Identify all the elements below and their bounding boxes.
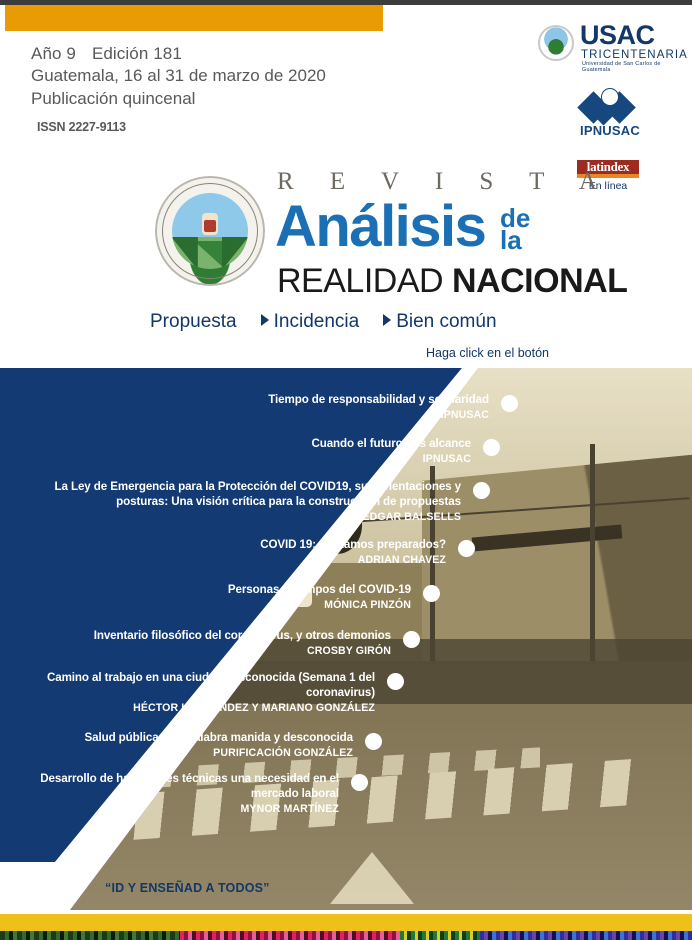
issue-frequency: Publicación quincenal (31, 88, 326, 110)
article-title: Tiempo de responsabilidad y solidaridad (250, 393, 489, 408)
article-button-icon[interactable] (387, 673, 404, 690)
triangle-right-icon (261, 314, 269, 326)
list-item[interactable]: Tiempo de responsabilidad y solidaridad … (250, 393, 518, 423)
list-item[interactable]: COVID 19: ¿Estamos preparados? ADRIAN CH… (215, 538, 475, 568)
list-item[interactable]: Cuando el futuro nos alcance IPNUSAC (230, 437, 500, 467)
list-item[interactable]: Desarrollo de habilidades técnicas una n… (40, 772, 368, 816)
nav-row: PropuestaIncidenciaBien común (150, 311, 497, 333)
nav-item-incidencia[interactable]: Incidencia (261, 311, 360, 333)
article-author: MYNOR MARTÍNEZ (40, 803, 339, 817)
triangle-right-icon (383, 314, 391, 326)
list-item[interactable]: Inventario filosófico del coronavirus, y… (60, 629, 420, 659)
list-item[interactable]: La Ley de Emergencia para la Protección … (30, 480, 490, 524)
article-title: Camino al trabajo en una ciudad desconoc… (40, 671, 375, 701)
footer-yellow-bar (0, 914, 692, 931)
article-author: ADRIAN CHAVEZ (215, 554, 446, 568)
article-button-icon[interactable] (473, 482, 490, 499)
nav-item-bien-comun[interactable]: Bien común (383, 311, 496, 333)
top-orange-bar (5, 5, 383, 31)
usac-seal-icon (538, 25, 574, 61)
issue-year: Año 9 (31, 44, 76, 63)
article-title: COVID 19: ¿Estamos preparados? (215, 538, 446, 553)
article-button-icon[interactable] (403, 631, 420, 648)
article-author: IPNUSAC (250, 409, 489, 423)
analisis-word: Análisis (275, 198, 485, 256)
usac-tricentenaria-label: TRICENTENARIA (581, 49, 688, 61)
article-button-icon[interactable] (483, 439, 500, 456)
usac-wordmark: USAC (580, 22, 655, 49)
footer-textile-strip (0, 931, 692, 940)
article-title: Salud pública, esa palabra manida y desc… (80, 731, 353, 746)
usac-big-seal-icon (150, 171, 270, 291)
article-author: HÉCTOR HERNÁNDEZ Y MARIANO GONZÁLEZ (40, 702, 375, 716)
click-hint-text: Haga click en el botón (426, 346, 549, 360)
article-author: CROSBY GIRÓN (60, 645, 391, 659)
revista-word: R E V I S T A (277, 168, 612, 196)
list-item[interactable]: Camino al trabajo en una ciudad desconoc… (40, 671, 404, 715)
article-title: Inventario filosófico del coronavirus, y… (60, 629, 391, 644)
article-title: Desarrollo de habilidades técnicas una n… (40, 772, 339, 802)
usac-logo: USAC TRICENTENARIA Universidad de San Ca… (538, 22, 686, 70)
article-list: Tiempo de responsabilidad y solidaridad … (0, 368, 692, 862)
motto-text: “ID Y ENSEÑAD A TODOS” (105, 881, 270, 895)
issue-number: Edición 181 (92, 44, 182, 63)
article-author: IPNUSAC (230, 453, 471, 467)
article-author: MÓNICA PINZÓN (200, 599, 411, 613)
ipnusac-diamond-icon (582, 88, 638, 122)
realidad-word: REALIDAD (277, 262, 443, 300)
article-button-icon[interactable] (423, 585, 440, 602)
issn-text: ISSN 2227-9113 (37, 120, 126, 134)
realidad-nacional-word: REALIDAD NACIONAL (277, 264, 627, 298)
article-title: La Ley de Emergencia para la Protección … (30, 480, 461, 510)
magazine-cover: Año 9Edición 181 Guatemala, 16 al 31 de … (0, 0, 692, 940)
issue-place-date: Guatemala, 16 al 31 de marzo de 2020 (31, 65, 326, 87)
issue-info: Año 9Edición 181 Guatemala, 16 al 31 de … (31, 43, 326, 110)
article-button-icon[interactable] (365, 733, 382, 750)
ipnusac-logo: IPNUSAC (574, 88, 646, 138)
nacional-word: NACIONAL (452, 262, 627, 300)
article-author: EDGAR BALSELLS (30, 511, 461, 525)
article-title: Cuando el futuro nos alcance (230, 437, 471, 452)
list-item[interactable]: Personas y tiempos del COVID-19 MÓNICA P… (200, 583, 440, 613)
ipnusac-label: IPNUSAC (574, 123, 646, 138)
article-author: PURIFICACIÓN GONZÁLEZ (80, 747, 353, 761)
list-item[interactable]: Salud pública, esa palabra manida y desc… (80, 731, 382, 761)
article-button-icon[interactable] (351, 774, 368, 791)
article-button-icon[interactable] (458, 540, 475, 557)
article-title: Personas y tiempos del COVID-19 (200, 583, 411, 598)
nav-item-propuesta[interactable]: Propuesta (150, 311, 237, 333)
de-la-word: de la (500, 207, 530, 252)
article-button-icon[interactable] (501, 395, 518, 412)
usac-university-label: Universidad de San Carlos de Guatemala (582, 61, 686, 73)
